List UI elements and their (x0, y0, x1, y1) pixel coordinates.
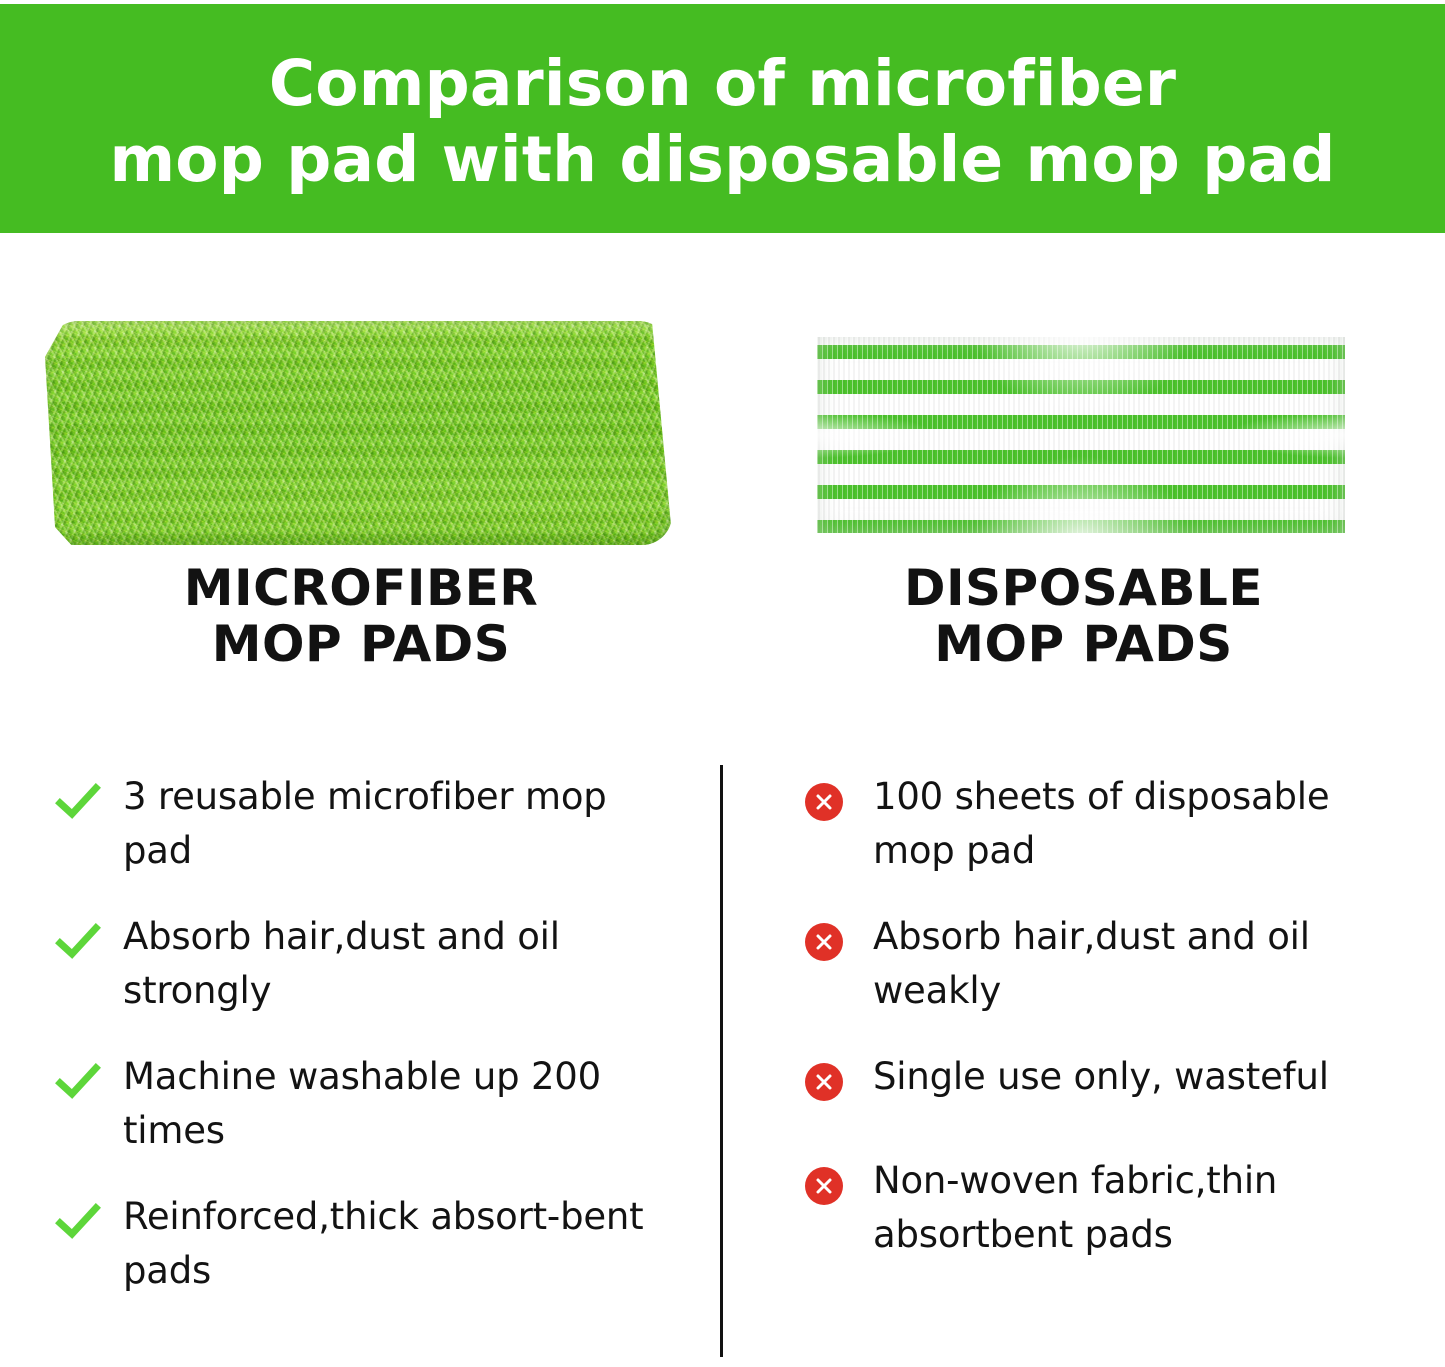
list-item-label: Single use only, wasteful (873, 1050, 1329, 1104)
list-item-label: 100 sheets of disposable mop pad (873, 770, 1405, 878)
list-item-label: Absorb hair,dust and oil strongly (123, 910, 683, 1018)
microfiber-mop-pad-image (45, 321, 672, 545)
header-title-line-1: Comparison of microfiber (269, 46, 1176, 122)
header-title-line-2: mop pad with disposable mop pad (109, 122, 1335, 198)
list-item: 3 reusable microfiber mop pad (55, 770, 695, 878)
list-item-label: Reinforced,thick absort-bent pads (123, 1190, 683, 1298)
feature-lists-area: 3 reusable microfiber mop pad Absorb hai… (0, 770, 1445, 1365)
cross-circle-icon (805, 1167, 843, 1205)
disposable-title-line-1: DISPOSABLE (722, 560, 1445, 616)
cross-circle-icon (805, 1063, 843, 1101)
cross-circle-icon (805, 783, 843, 821)
list-item-label: Non-woven fabric,thin absortbent pads (873, 1154, 1405, 1262)
disposable-image-cell (722, 233, 1445, 553)
disposable-striped-mop-pad-image (817, 337, 1345, 533)
check-icon (55, 1059, 101, 1105)
feature-list-disposable: 100 sheets of disposable mop pad Absorb … (805, 770, 1405, 1365)
list-item: Absorb hair,dust and oil weakly (805, 910, 1405, 1018)
cross-circle-icon (805, 923, 843, 961)
list-item: Absorb hair,dust and oil strongly (55, 910, 695, 1018)
product-images-row (0, 233, 1445, 553)
column-title-disposable: DISPOSABLE MOP PADS (722, 560, 1445, 672)
microfiber-title-line-2: MOP PADS (0, 616, 722, 672)
column-title-microfiber: MICROFIBER MOP PADS (0, 560, 722, 672)
list-item-label: Absorb hair,dust and oil weakly (873, 910, 1405, 1018)
list-item: Machine washable up 200 times (55, 1050, 695, 1158)
feature-list-microfiber: 3 reusable microfiber mop pad Absorb hai… (55, 770, 695, 1365)
microfiber-image-cell (0, 233, 722, 553)
list-item: Non-woven fabric,thin absortbent pads (805, 1154, 1405, 1262)
comparison-infographic: Comparison of microfiber mop pad with di… (0, 0, 1445, 1367)
microfiber-title-line-1: MICROFIBER (0, 560, 722, 616)
list-item-label: Machine washable up 200 times (123, 1050, 683, 1158)
list-item: 100 sheets of disposable mop pad (805, 770, 1405, 878)
header-banner: Comparison of microfiber mop pad with di… (0, 4, 1445, 233)
list-item: Single use only, wasteful (805, 1050, 1405, 1122)
check-icon (55, 919, 101, 965)
list-item-label: 3 reusable microfiber mop pad (123, 770, 683, 878)
column-titles-row: MICROFIBER MOP PADS DISPOSABLE MOP PADS (0, 560, 1445, 735)
list-item: Reinforced,thick absort-bent pads (55, 1190, 695, 1298)
check-icon (55, 779, 101, 825)
disposable-title-line-2: MOP PADS (722, 616, 1445, 672)
check-icon (55, 1199, 101, 1245)
